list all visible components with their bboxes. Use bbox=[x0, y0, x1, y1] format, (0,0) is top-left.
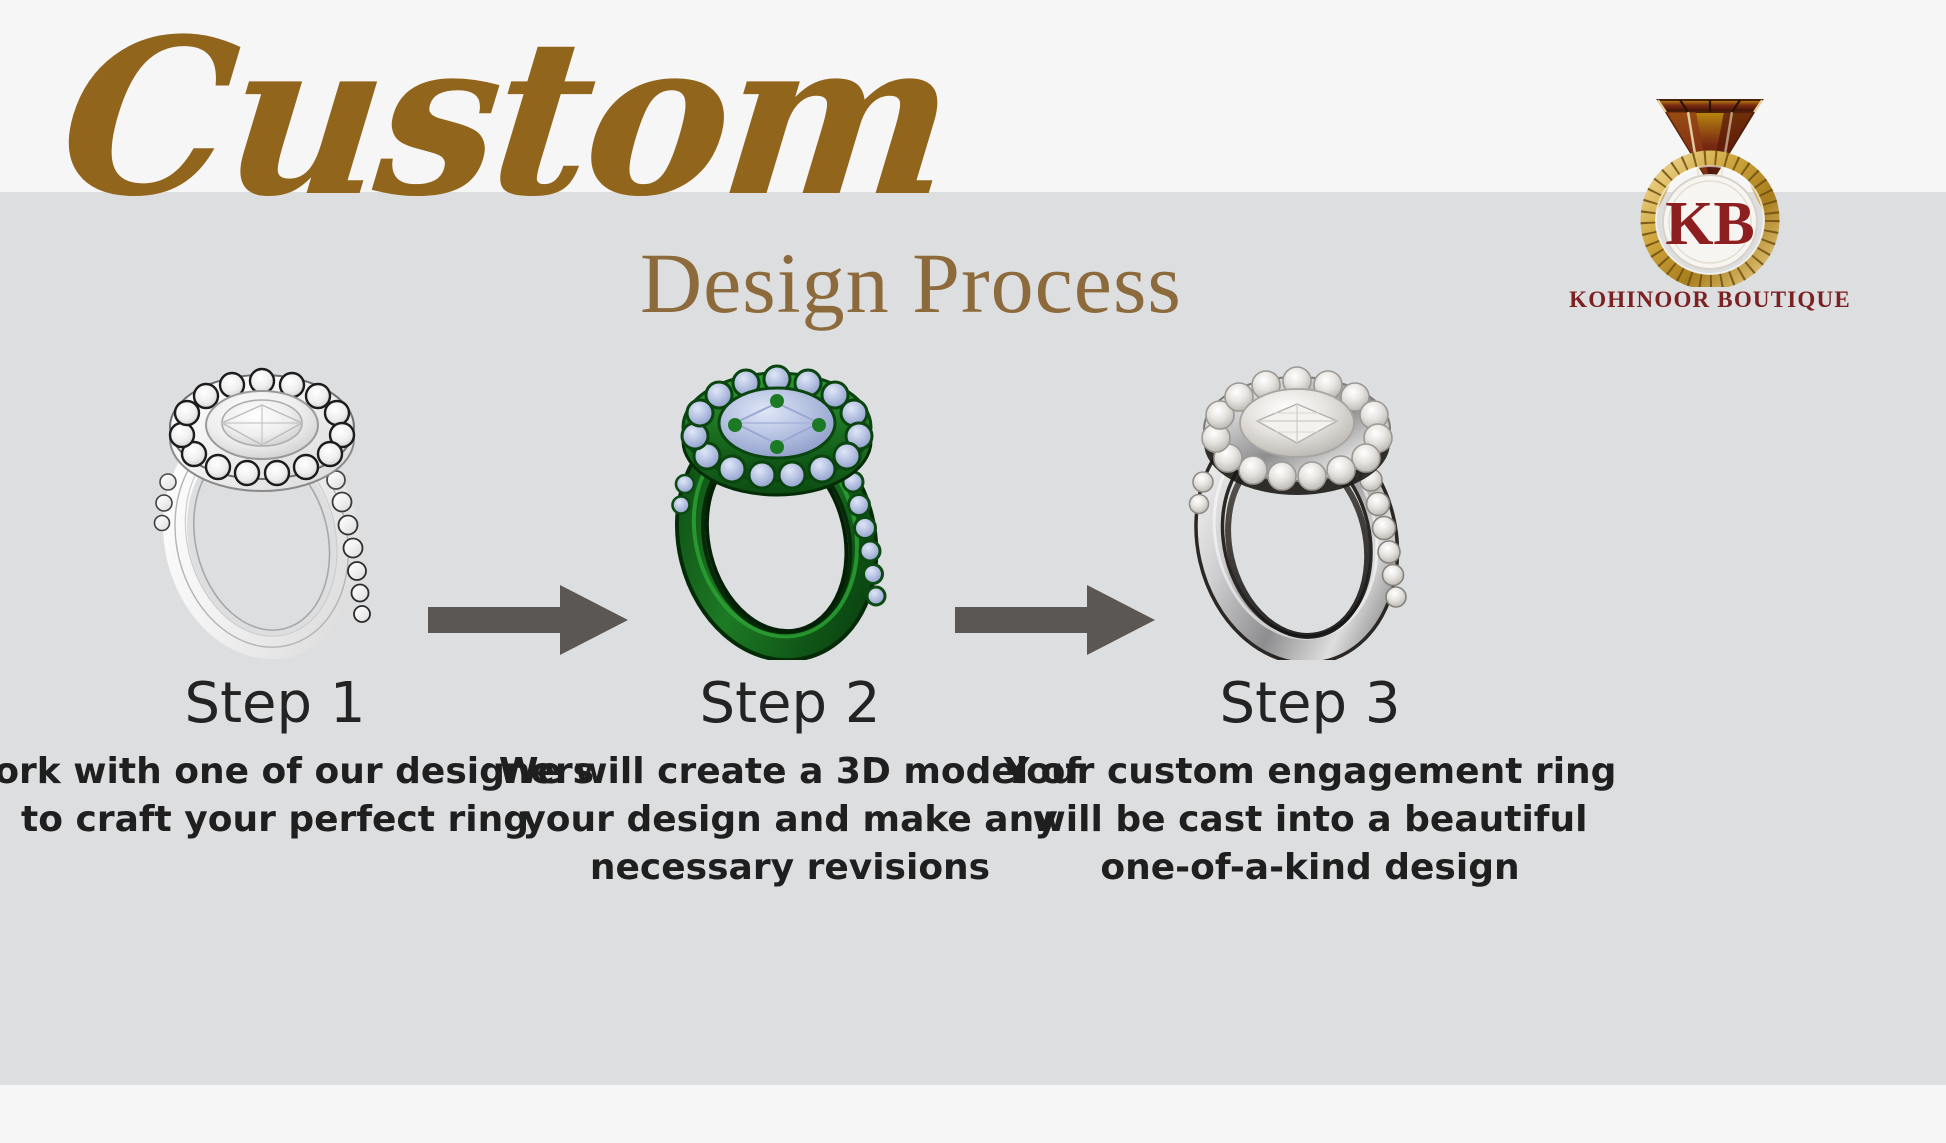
brand-name-text: KOHINOOR BOUTIQUE bbox=[1560, 287, 1860, 313]
arrow-step2-to-step3 bbox=[955, 575, 1155, 665]
arrow-step1-to-step2 bbox=[428, 575, 628, 665]
green-3d-model-ring-illustration bbox=[625, 330, 955, 660]
step-title-3: Step 3 bbox=[960, 675, 1660, 734]
page-subtitle: Design Process bbox=[640, 240, 1182, 326]
logo-monogram-text: KB bbox=[1665, 190, 1755, 258]
step-description-3: Your custom engagement ring will be cast… bbox=[960, 748, 1660, 892]
page-title-script: Custom bbox=[53, 10, 958, 225]
background-band-bottom bbox=[0, 1085, 1946, 1143]
finished-diamond-ring-photo bbox=[1145, 330, 1475, 660]
steps-row: Step 1 Work with one of our designers to… bbox=[0, 330, 1946, 1050]
infographic-canvas: Custom Design Process bbox=[0, 0, 1946, 1143]
cad-wireframe-ring-illustration bbox=[110, 330, 440, 660]
brand-logo: KB KOHINOOR BOUTIQUE bbox=[1560, 72, 1860, 322]
step-column-3: Step 3 Your custom engagement ring will … bbox=[1000, 330, 1620, 1050]
diamond-ring-crest-icon: KB bbox=[1600, 72, 1820, 287]
